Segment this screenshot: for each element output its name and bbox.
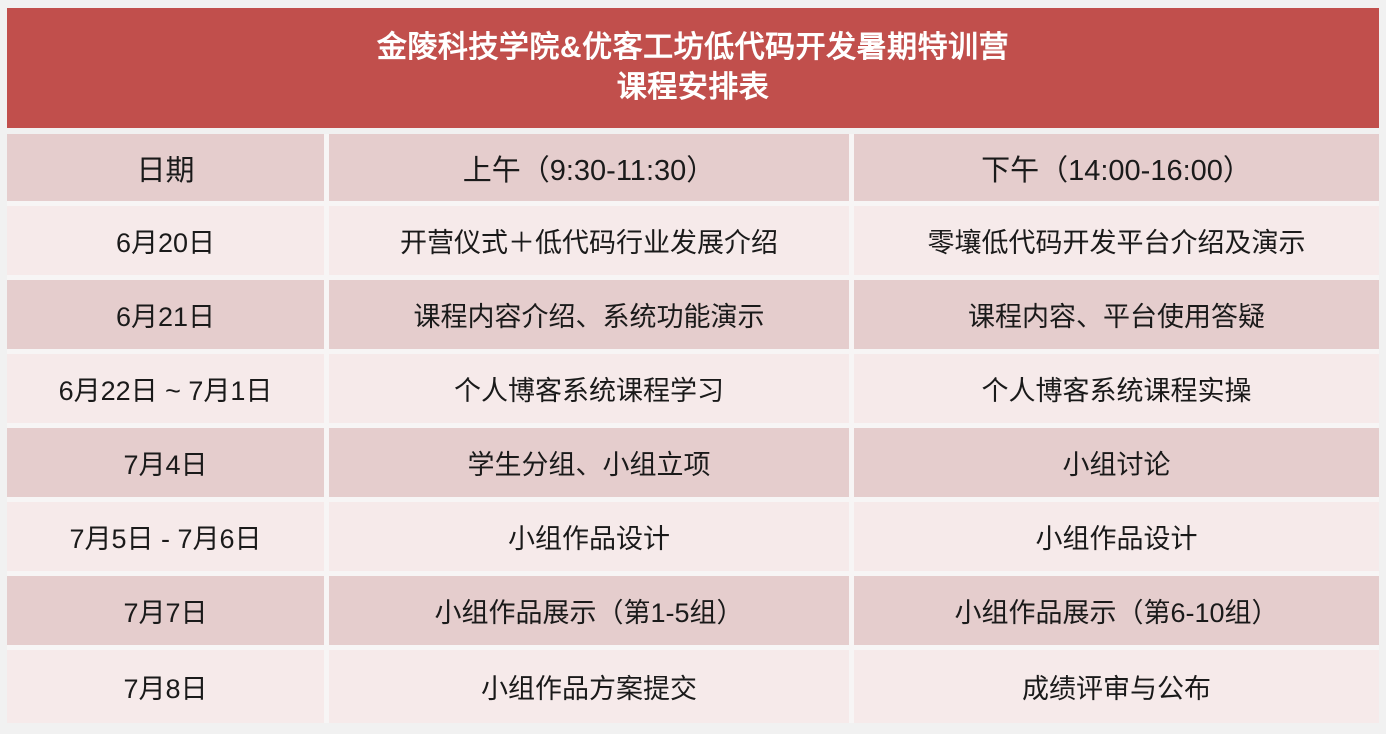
- table-row: 6月22日 ~ 7月1日 个人博客系统课程学习 个人博客系统课程实操: [7, 354, 1379, 428]
- cell-afternoon: 个人博客系统课程实操: [854, 354, 1379, 428]
- cell-date: 6月20日: [7, 206, 329, 280]
- cell-morning: 小组作品设计: [329, 502, 854, 576]
- cell-morning: 学生分组、小组立项: [329, 428, 854, 502]
- cell-morning: 开营仪式＋低代码行业发展介绍: [329, 206, 854, 280]
- table-row: 7月8日 小组作品方案提交 成绩评审与公布: [7, 650, 1379, 723]
- cell-afternoon: 课程内容、平台使用答疑: [854, 280, 1379, 354]
- table-header-row: 日期 上午（9:30-11:30） 下午（14:00-16:00）: [7, 134, 1379, 206]
- cell-morning: 小组作品方案提交: [329, 650, 854, 723]
- column-header-morning: 上午（9:30-11:30）: [329, 134, 854, 206]
- banner-title-line-1: 金陵科技学院&优客工坊低代码开发暑期特训营: [377, 28, 1009, 68]
- table-body: 6月20日 开营仪式＋低代码行业发展介绍 零壤低代码开发平台介绍及演示 6月21…: [7, 206, 1379, 723]
- cell-date: 7月5日 - 7月6日: [7, 502, 329, 576]
- table-row: 7月7日 小组作品展示（第1-5组） 小组作品展示（第6-10组）: [7, 576, 1379, 650]
- cell-date: 7月8日: [7, 650, 329, 723]
- cell-afternoon: 小组作品设计: [854, 502, 1379, 576]
- cell-afternoon: 小组作品展示（第6-10组）: [854, 576, 1379, 650]
- banner-title-line-2: 课程安排表: [617, 68, 770, 108]
- title-banner: 金陵科技学院&优客工坊低代码开发暑期特训营 课程安排表: [7, 8, 1379, 128]
- table-row: 7月4日 学生分组、小组立项 小组讨论: [7, 428, 1379, 502]
- cell-morning: 个人博客系统课程学习: [329, 354, 854, 428]
- cell-date: 7月7日: [7, 576, 329, 650]
- cell-afternoon: 成绩评审与公布: [854, 650, 1379, 723]
- cell-date: 6月21日: [7, 280, 329, 354]
- column-header-date: 日期: [7, 134, 329, 206]
- cell-afternoon: 小组讨论: [854, 428, 1379, 502]
- slide-canvas: 金陵科技学院&优客工坊低代码开发暑期特训营 课程安排表 日期 上午（9:30-1…: [0, 0, 1386, 734]
- column-header-afternoon: 下午（14:00-16:00）: [854, 134, 1379, 206]
- course-schedule-table: 日期 上午（9:30-11:30） 下午（14:00-16:00） 6月20日 …: [7, 134, 1379, 723]
- table-row: 6月20日 开营仪式＋低代码行业发展介绍 零壤低代码开发平台介绍及演示: [7, 206, 1379, 280]
- cell-date: 7月4日: [7, 428, 329, 502]
- table-row: 7月5日 - 7月6日 小组作品设计 小组作品设计: [7, 502, 1379, 576]
- cell-date: 6月22日 ~ 7月1日: [7, 354, 329, 428]
- cell-morning: 小组作品展示（第1-5组）: [329, 576, 854, 650]
- cell-morning: 课程内容介绍、系统功能演示: [329, 280, 854, 354]
- cell-afternoon: 零壤低代码开发平台介绍及演示: [854, 206, 1379, 280]
- table-row: 6月21日 课程内容介绍、系统功能演示 课程内容、平台使用答疑: [7, 280, 1379, 354]
